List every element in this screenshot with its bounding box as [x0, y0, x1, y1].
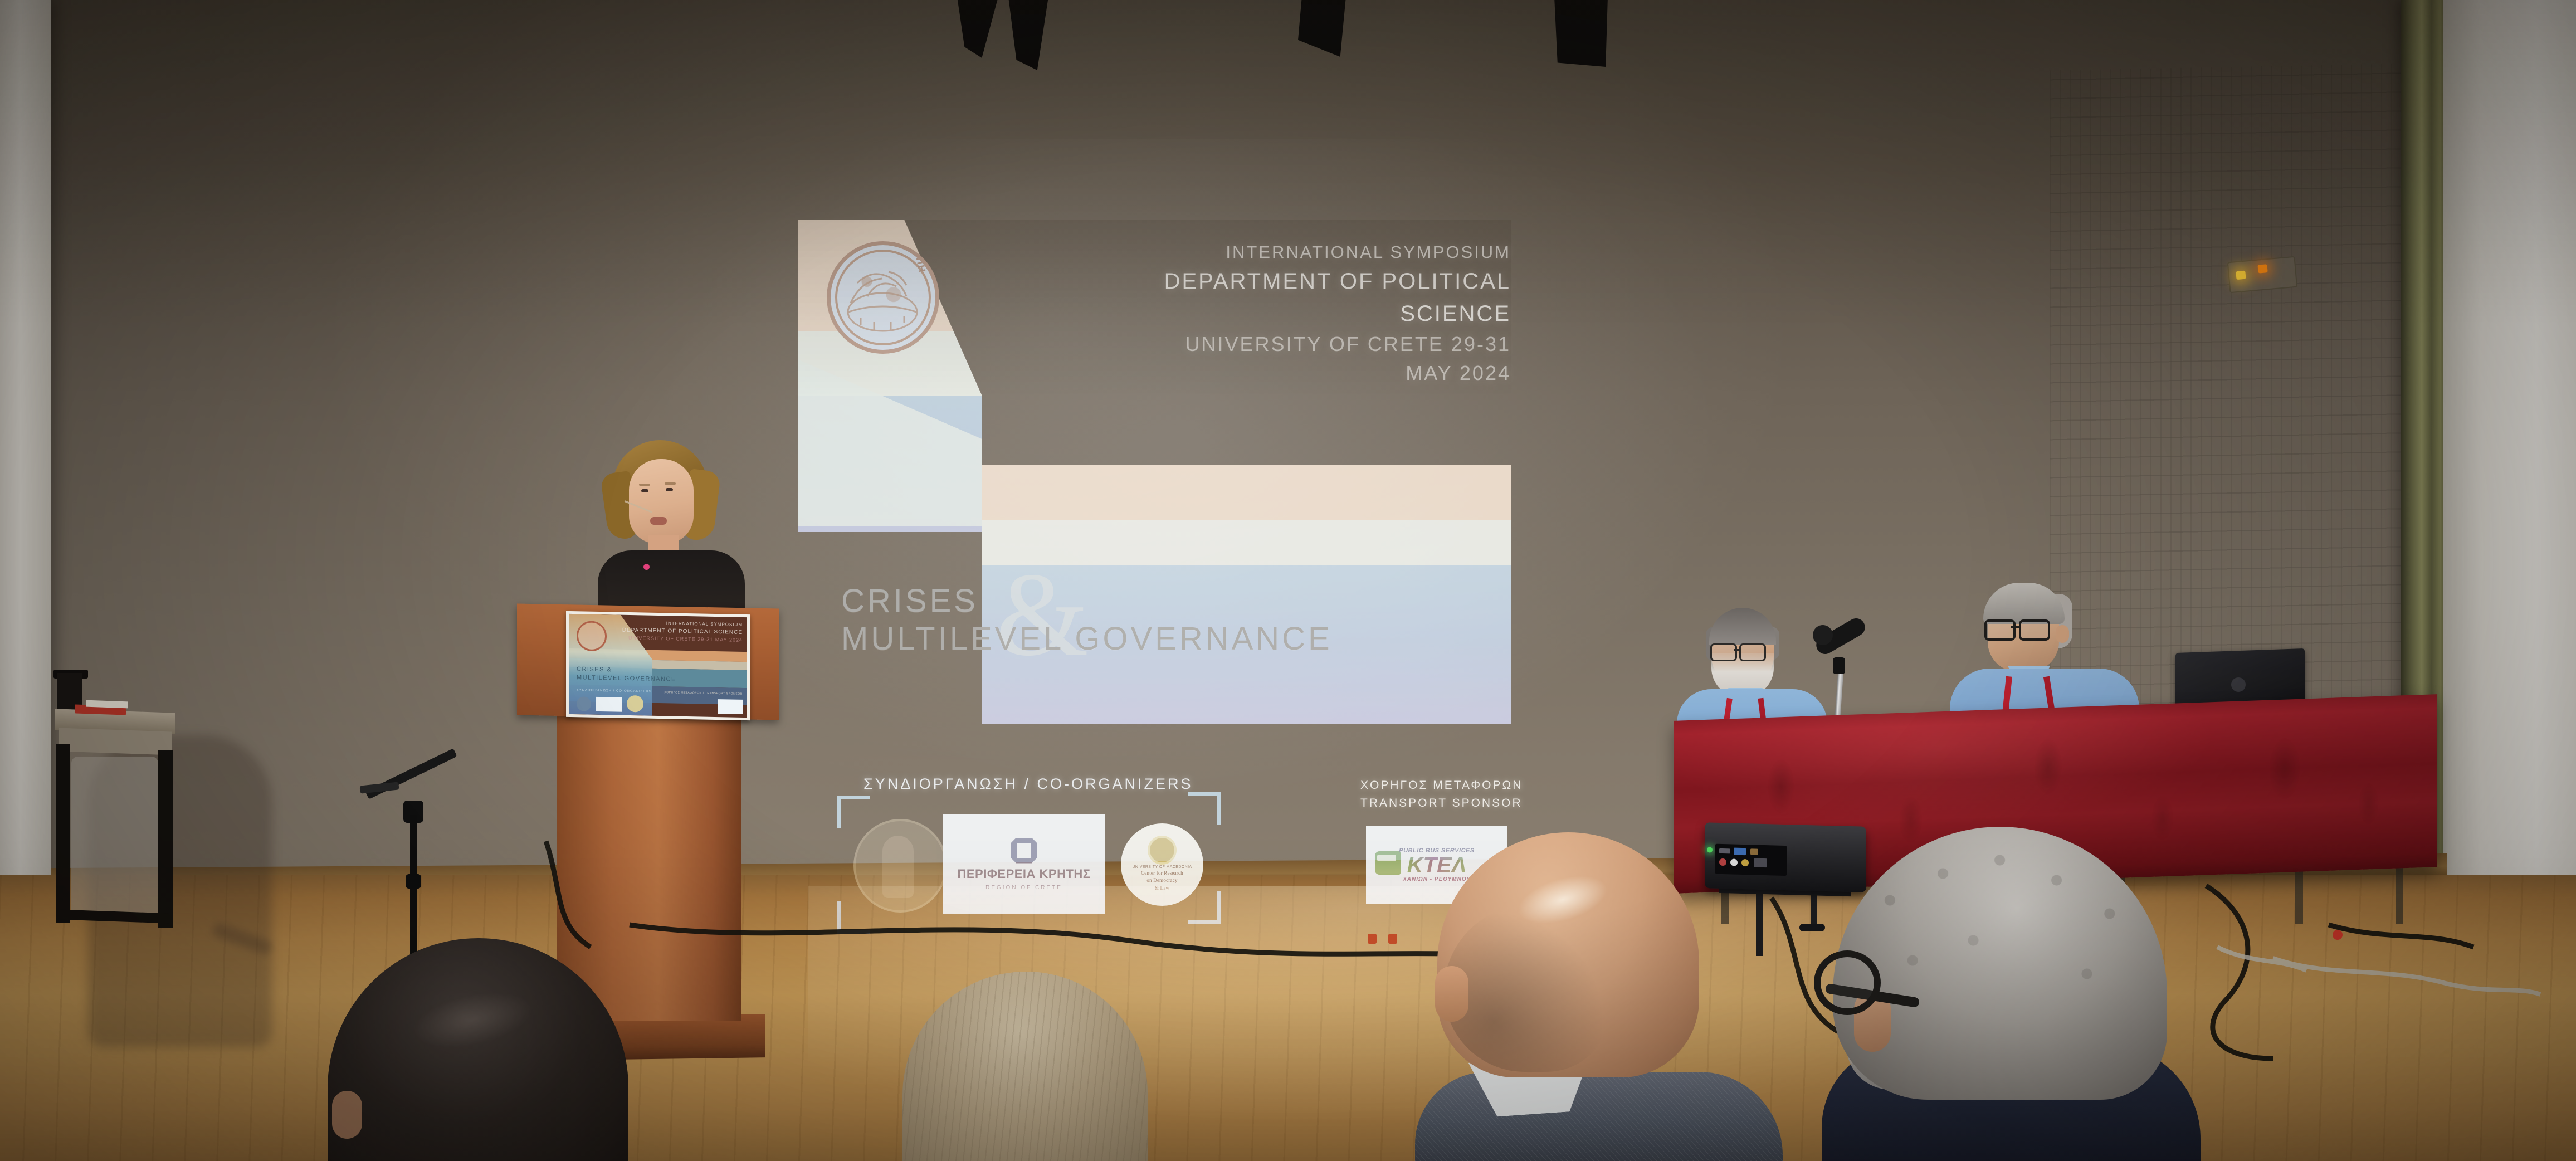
poster-logo-chip	[718, 699, 743, 714]
region-name-english: REGION OF CRETE	[985, 885, 1062, 891]
amber-led-icon	[2257, 264, 2267, 273]
slide-title-line1: CRISES	[841, 582, 1482, 620]
corner-bracket-icon	[837, 796, 870, 828]
wall-indicator-panel	[2227, 256, 2297, 293]
university-seal: ΕΥΡΩΠΗ	[827, 241, 939, 354]
speaker-face	[629, 459, 694, 544]
sponsor-label-english: TRANSPORT SPONSOR	[1360, 794, 1523, 812]
sun-emblem-icon	[1150, 838, 1174, 862]
gray-suit-jacket	[1415, 1072, 1783, 1161]
transport-sponsor-label: ΧΟΡΗΓΟΣ ΜΕΤΑΦΟΡΩΝ TRANSPORT SPONSOR	[1360, 777, 1523, 812]
audience-member-dark-hair	[328, 938, 628, 1161]
ear	[1435, 966, 1468, 1022]
research-center-logo: UNIVERSITY OF MACEDONIA Center for Resea…	[1121, 823, 1203, 906]
slide-header-line2: DEPARTMENT OF POLITICAL SCIENCE	[1154, 265, 1511, 330]
slide-header-line1: INTERNATIONAL SYMPOSIUM	[1154, 240, 1511, 265]
university-of-crete-logo	[853, 819, 947, 913]
corner-bracket-icon	[837, 901, 870, 934]
research-center-line3: & Law	[1155, 885, 1169, 891]
poster-logo-chip	[596, 697, 622, 712]
research-center-line2: on Democracy	[1146, 877, 1177, 884]
audience-member-blond-hair	[902, 972, 1148, 1161]
photo-scene: ΕΥΡΩΠΗ INTERNATIONAL SYMPOSIUM DEPARTMEN…	[0, 0, 2576, 1161]
audience-member-gray-curly	[1822, 827, 2201, 1161]
laptop-logo-icon	[2231, 677, 2246, 692]
amber-led-icon	[2236, 271, 2246, 280]
slide-band-peach	[982, 465, 1511, 520]
region-of-crete-logo: ΠΕΡΙΦΕΡΕΙΑ ΚΡΗΤΗΣ REGION OF CRETE	[943, 814, 1105, 914]
ear	[332, 1091, 362, 1139]
region-name-greek: ΠΕΡΙΦΕΡΕΙΑ ΚΡΗΤΗΣ	[957, 867, 1090, 881]
region-emblem-icon	[1011, 838, 1037, 864]
eyeglasses-lens-icon	[1814, 950, 1881, 1015]
slide-header-block: INTERNATIONAL SYMPOSIUM DEPARTMENT OF PO…	[1154, 240, 1511, 388]
lapel-pin	[643, 564, 650, 570]
co-organizers-label: ΣΥΝΔΙΟΡΓΑΝΩΣΗ / CO-ORGANIZERS	[863, 775, 1193, 793]
research-center-line1: Center for Research	[1141, 870, 1183, 876]
eyeglasses-icon	[1709, 643, 1776, 658]
speaker-at-podium	[588, 440, 755, 624]
projected-slide: ΕΥΡΩΠΗ INTERNATIONAL SYMPOSIUM DEPARTMEN…	[798, 220, 1511, 724]
slide-title-block: CRISES MULTILEVEL GOVERNANCE	[841, 582, 1482, 658]
slide-title-line2: MULTILEVEL GOVERNANCE	[841, 620, 1482, 658]
uom-name: UNIVERSITY OF MACEDONIA	[1132, 865, 1192, 869]
corner-bracket-icon	[1188, 792, 1221, 825]
right-wall-pillar	[2443, 0, 2576, 936]
poster-seal-icon	[577, 621, 607, 651]
eyeglasses-icon	[1984, 619, 2061, 636]
ceiling-light-fixture	[1554, 0, 1608, 67]
poster-logo-chip	[627, 695, 643, 713]
podium-poster: INTERNATIONAL SYMPOSIUM DEPARTMENT OF PO…	[566, 611, 750, 720]
audience-member-bald	[1415, 832, 1783, 1161]
poster-logo-chip	[577, 696, 591, 711]
slide-header-line3: UNIVERSITY OF CRETE 29-31 MAY 2024	[1154, 330, 1511, 388]
sponsor-label-greek: ΧΟΡΗΓΟΣ ΜΕΤΑΦΟΡΩΝ	[1360, 777, 1523, 794]
side-table	[49, 679, 177, 1053]
